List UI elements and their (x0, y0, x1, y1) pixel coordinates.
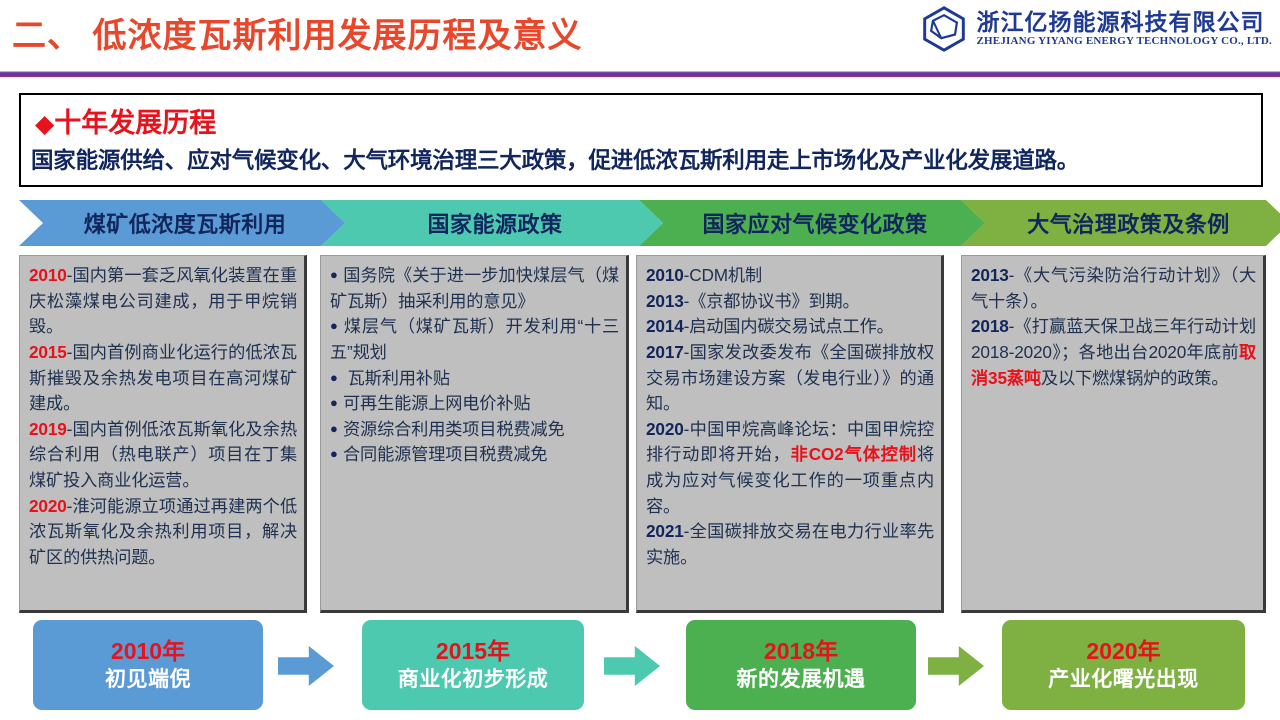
bullet-text: 合同能源管理项目税费减免 (343, 444, 547, 464)
panel-coal-mine-low-concentration-gas: 2010-国内第一套乏风氧化装置在重庆松藻煤电公司建成，用于甲烷销毁。2015-… (19, 255, 307, 613)
milestone-year: 2015年 (436, 637, 510, 666)
chevron-band: 煤矿低浓度瓦斯利用国家能源政策国家应对气候变化政策大气治理政策及条例 (19, 200, 1271, 246)
entry-year: 2010 (646, 265, 684, 285)
timeline-entry: 2014-启动国内碳交易试点工作。 (646, 314, 934, 340)
timeline-entry: 2013-《京都协议书》到期。 (646, 289, 934, 315)
milestone-label: 产业化曙光出现 (1048, 666, 1199, 693)
bullet-text: 可再生能源上网电价补贴 (343, 393, 530, 413)
entry-text: -淮河能源立项通过再建两个低浓瓦斯氧化及余热利用项目，解决矿区的供热问题。 (29, 496, 297, 567)
entry-year: 2013 (971, 265, 1009, 285)
milestone-year: 2018年 (764, 637, 838, 666)
timeline-entry: 2021-全国碳排放交易在电力行业率先实施。 (646, 519, 934, 570)
milestone-2015[interactable]: 2015年商业化初步形成 (362, 620, 584, 710)
entry-text: -CDM机制 (684, 265, 762, 285)
arrow-right-icon-3 (928, 646, 984, 686)
panel-climate-change-policy: 2010-CDM机制2013-《京都协议书》到期。2014-启动国内碳交易试点工… (636, 255, 944, 613)
chevron-label: 国家能源政策 (427, 207, 562, 239)
timeline-entry: 2010-CDM机制 (646, 263, 934, 289)
bullet-text: 国务院《关于进一步加快煤层气（煤矿瓦斯）抽采利用的意见》 (330, 265, 619, 311)
milestone-row: 2010年初见端倪2015年商业化初步形成2018年新的发展机遇2020年产业化… (0, 620, 1280, 720)
bullet-item: ●可再生能源上网电价补贴 (330, 391, 619, 417)
entry-text: -国内首例低浓瓦斯氧化及余热综合利用（热电联产）项目在丁集煤矿投入商业化运营。 (29, 419, 297, 490)
round-bullet-icon: ● (330, 444, 343, 463)
milestone-2018[interactable]: 2018年新的发展机遇 (686, 620, 916, 710)
entry-year: 2021 (646, 521, 684, 541)
timeline-entry: 2017-国家发改委发布《全国碳排放权交易市场建设方案（发电行业）》的通知。 (646, 340, 934, 417)
round-bullet-icon: ● (330, 393, 343, 412)
timeline-entry: 2020-中国甲烷高峰论坛：中国甲烷控排行动即将开始，非CO2气体控制将成为应对… (646, 417, 934, 520)
chevron-4[interactable]: 大气治理政策及条例 (961, 200, 1280, 246)
entry-highlight: 非CO2气体控制 (791, 444, 917, 464)
timeline-entry: 2019-国内首例低浓瓦斯氧化及余热综合利用（热电联产）项目在丁集煤矿投入商业化… (29, 417, 297, 494)
intro-box: ◆十年发展历程 国家能源供给、应对气候变化、大气环境治理三大政策，促进低浓瓦斯利… (19, 93, 1263, 187)
entry-text: -《京都协议书》到期。 (684, 291, 860, 311)
panel-national-energy-policy: ●国务院《关于进一步加快煤层气（煤矿瓦斯）抽采利用的意见》●煤层气（煤矿瓦斯）开… (320, 255, 629, 613)
round-bullet-icon: ● (330, 265, 343, 284)
entry-text: -《打赢蓝天保卫战三年行动计划2018-2020》；各地出台2020年底前 (971, 316, 1256, 362)
arrow-right-icon-1 (278, 646, 334, 686)
entry-year: 2018 (971, 316, 1009, 336)
entry-year: 2017 (646, 342, 684, 362)
arrow-right-icon-2 (604, 646, 660, 686)
entry-year: 2020 (29, 496, 67, 516)
content-panels: 2010-国内第一套乏风氧化装置在重庆松藻煤电公司建成，用于甲烷销毁。2015-… (19, 255, 1271, 613)
bullet-item: ●国务院《关于进一步加快煤层气（煤矿瓦斯）抽采利用的意见》 (330, 263, 619, 314)
entry-text: -《大气污染防治行动计划》（大气十条）。 (971, 265, 1256, 311)
panel-air-pollution-control-policy: 2013-《大气污染防治行动计划》（大气十条）。2018-《打赢蓝天保卫战三年行… (961, 255, 1266, 613)
chevron-2[interactable]: 国家能源政策 (321, 200, 663, 246)
intro-heading-text: 十年发展历程 (54, 108, 216, 138)
milestone-2020[interactable]: 2020年产业化曙光出现 (1002, 620, 1245, 710)
bullet-text: 资源综合利用类项目税费减免 (343, 419, 565, 439)
milestone-label: 初见端倪 (105, 666, 191, 693)
slide-header: 二、 低浓度瓦斯利用发展历程及意义 浙江亿扬能源科技有限公司 ZHEJIANG … (0, 0, 1280, 74)
bullet-item: ●煤层气（煤矿瓦斯）开发利用“十三五”规划 (330, 314, 619, 365)
timeline-entry: 2010-国内第一套乏风氧化装置在重庆松藻煤电公司建成，用于甲烷销毁。 (29, 263, 297, 340)
chevron-label: 煤矿低浓度瓦斯利用 (84, 207, 287, 239)
bullet-text: 煤层气（煤矿瓦斯）开发利用“十三五”规划 (330, 316, 619, 362)
timeline-entry: 2018-《打赢蓝天保卫战三年行动计划2018-2020》；各地出台2020年底… (971, 314, 1256, 391)
chevron-1[interactable]: 煤矿低浓度瓦斯利用 (19, 200, 345, 246)
round-bullet-icon: ● (330, 316, 343, 335)
intro-body-text: 国家能源供给、应对气候变化、大气环境治理三大政策，促进低浓瓦斯利用走上市场化及产… (31, 143, 1257, 175)
round-bullet-icon: ● (330, 419, 343, 438)
timeline-entry: 2015-国内首例商业化运行的低浓瓦斯摧毁及余热发电项目在高河煤矿建成。 (29, 340, 297, 417)
entry-year: 2015 (29, 342, 67, 362)
diamond-bullet-icon: ◆ (35, 110, 54, 138)
intro-heading: ◆十年发展历程 (35, 101, 216, 140)
company-logo: 浙江亿扬能源科技有限公司 ZHEJIANG YIYANG ENERGY TECH… (921, 6, 1272, 52)
entry-year: 2014 (646, 316, 684, 336)
bullet-item: ● 瓦斯利用补贴 (330, 366, 619, 392)
header-divider (0, 71, 1280, 77)
hexagon-logo-icon (921, 6, 967, 52)
entry-year: 2020 (646, 419, 684, 439)
entry-text: -国内首例商业化运行的低浓瓦斯摧毁及余热发电项目在高河煤矿建成。 (29, 342, 297, 413)
entry-year: 2019 (29, 419, 67, 439)
bullet-text: 瓦斯利用补贴 (343, 368, 450, 388)
entry-text: -国家发改委发布《全国碳排放权交易市场建设方案（发电行业）》的通知。 (646, 342, 934, 413)
entry-year: 2013 (646, 291, 684, 311)
bullet-item: ●资源综合利用类项目税费减免 (330, 417, 619, 443)
milestone-year: 2020年 (1086, 637, 1160, 666)
entry-text: -启动国内碳交易试点工作。 (684, 316, 894, 336)
round-bullet-icon: ● (330, 368, 343, 387)
company-name-en: ZHEJIANG YIYANG ENERGY TECHNOLOGY CO., L… (977, 35, 1272, 48)
bullet-item: ●合同能源管理项目税费减免 (330, 442, 619, 468)
entry-year: 2010 (29, 265, 67, 285)
timeline-entry: 2020-淮河能源立项通过再建两个低浓瓦斯氧化及余热利用项目，解决矿区的供热问题… (29, 494, 297, 571)
chevron-label: 大气治理政策及条例 (1027, 207, 1230, 239)
entry-text: -国内第一套乏风氧化装置在重庆松藻煤电公司建成，用于甲烷销毁。 (29, 265, 297, 336)
entry-text: -全国碳排放交易在电力行业率先实施。 (646, 521, 934, 567)
milestone-label: 商业化初步形成 (398, 666, 549, 693)
page-title: 二、 低浓度瓦斯利用发展历程及意义 (12, 8, 582, 57)
chevron-3[interactable]: 国家应对气候变化政策 (639, 200, 985, 246)
milestone-year: 2010年 (111, 637, 185, 666)
timeline-entry: 2013-《大气污染防治行动计划》（大气十条）。 (971, 263, 1256, 314)
chevron-label: 国家应对气候变化政策 (702, 207, 927, 239)
milestone-label: 新的发展机遇 (737, 666, 866, 693)
milestone-2010[interactable]: 2010年初见端倪 (33, 620, 263, 710)
company-name-cn: 浙江亿扬能源科技有限公司 (977, 10, 1272, 36)
entry-text-after: 及以下燃煤锅炉的政策。 (1041, 368, 1228, 388)
